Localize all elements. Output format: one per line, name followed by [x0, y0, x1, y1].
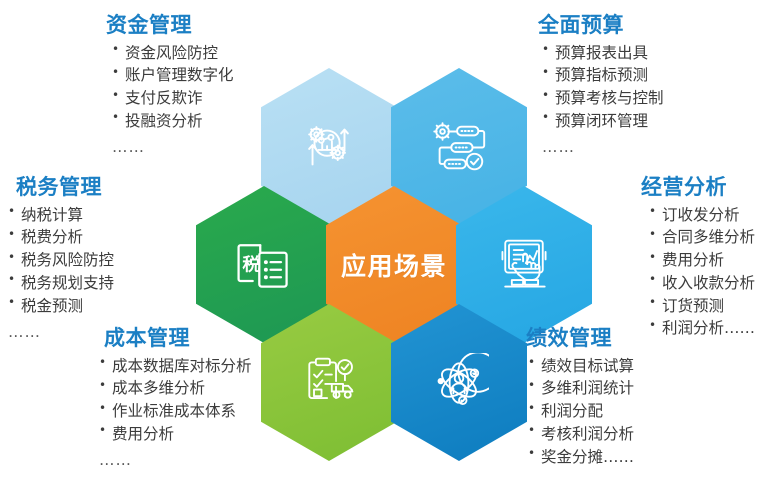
list-item: 订收发分析	[649, 204, 755, 227]
ellipsis-budget: ……	[542, 138, 664, 157]
list-item: 利润分配	[528, 400, 634, 423]
block-title-tax: 税务管理	[16, 176, 114, 200]
list-item: 费用分析	[99, 423, 252, 446]
list-item: 作业标准成本体系	[99, 400, 252, 423]
block-title-fund: 资金管理	[106, 14, 234, 38]
list-item: 预算报表出具	[542, 42, 664, 65]
list-item: 资金风险防控	[112, 42, 234, 65]
svg-text:税: 税	[242, 253, 260, 275]
list-item: 支付反欺诈	[112, 87, 234, 110]
list-item: 成本数据库对标分析	[99, 355, 252, 378]
block-budget: 全面预算 预算报表出具 预算指标预测 预算考核与控制 预算闭环管理 ……	[538, 14, 664, 156]
bullet-list-budget: 预算报表出具 预算指标预测 预算考核与控制 预算闭环管理	[542, 42, 664, 133]
list-item: 奖金分摊……	[528, 446, 634, 469]
list-item: 绩效目标试算	[528, 355, 634, 378]
list-item: 税务规划支持	[8, 272, 114, 295]
list-item: 投融资分析	[112, 110, 234, 133]
block-tax-management: 税务管理 纳税计算 税费分析 税务风险防控 税务规划支持 税金预测 ……	[8, 176, 114, 342]
person-orbit-icon	[429, 353, 489, 413]
list-item: 收入收款分析	[649, 272, 755, 295]
list-item: 合同多维分析	[649, 226, 755, 249]
list-item: 税费分析	[8, 226, 114, 249]
list-item: 多维利润统计	[528, 377, 634, 400]
tax-document-list-icon: 税	[232, 236, 296, 294]
list-item: 预算考核与控制	[542, 87, 664, 110]
bullet-list-biz: 订收发分析 合同多维分析 费用分析 收入收款分析 订货预测 利润分析……	[649, 204, 755, 341]
center-label: 应用场景	[341, 247, 447, 283]
block-title-perf: 绩效管理	[526, 327, 634, 351]
list-item: 税务风险防控	[8, 249, 114, 272]
tablet-hands-report-icon	[494, 235, 554, 295]
ellipsis-cost: ……	[99, 451, 252, 470]
bullet-list-perf: 绩效目标试算 多维利润统计 利润分配 考核利润分析 奖金分摊……	[528, 355, 634, 469]
infographic-canvas: 税 应用场景	[0, 0, 775, 500]
workflow-process-icon	[428, 116, 490, 178]
clipboard-truck-icon	[299, 354, 359, 412]
list-item: 订货预测	[649, 295, 755, 318]
list-item: 利润分析……	[649, 317, 755, 340]
bullet-list-fund: 资金风险防控 账户管理数字化 支付反欺诈 投融资分析	[112, 42, 234, 133]
list-item: 预算指标预测	[542, 64, 664, 87]
list-item: 考核利润分析	[528, 423, 634, 446]
block-performance-management: 绩效管理 绩效目标试算 多维利润统计 利润分配 考核利润分析 奖金分摊……	[526, 327, 634, 468]
ellipsis-fund: ……	[112, 138, 234, 157]
block-business-analysis: 经营分析 订收发分析 合同多维分析 费用分析 收入收款分析 订货预测 利润分析……	[641, 176, 755, 340]
block-title-cost: 成本管理	[104, 327, 252, 351]
gears-growth-chart-icon	[298, 116, 360, 178]
list-item: 税金预测	[8, 295, 114, 318]
list-item: 纳税计算	[8, 204, 114, 227]
list-item: 预算闭环管理	[542, 110, 664, 133]
bullet-list-cost: 成本数据库对标分析 成本多维分析 作业标准成本体系 费用分析	[99, 355, 252, 446]
bullet-list-tax: 纳税计算 税费分析 税务风险防控 税务规划支持 税金预测	[8, 204, 114, 318]
block-title-biz: 经营分析	[641, 176, 755, 200]
list-item: 成本多维分析	[99, 377, 252, 400]
list-item: 账户管理数字化	[112, 64, 234, 87]
block-fund-management: 资金管理 资金风险防控 账户管理数字化 支付反欺诈 投融资分析 ……	[92, 14, 234, 156]
block-cost-management: 成本管理 成本数据库对标分析 成本多维分析 作业标准成本体系 费用分析 ……	[95, 327, 252, 469]
block-title-budget: 全面预算	[538, 14, 664, 38]
list-item: 费用分析	[649, 249, 755, 272]
